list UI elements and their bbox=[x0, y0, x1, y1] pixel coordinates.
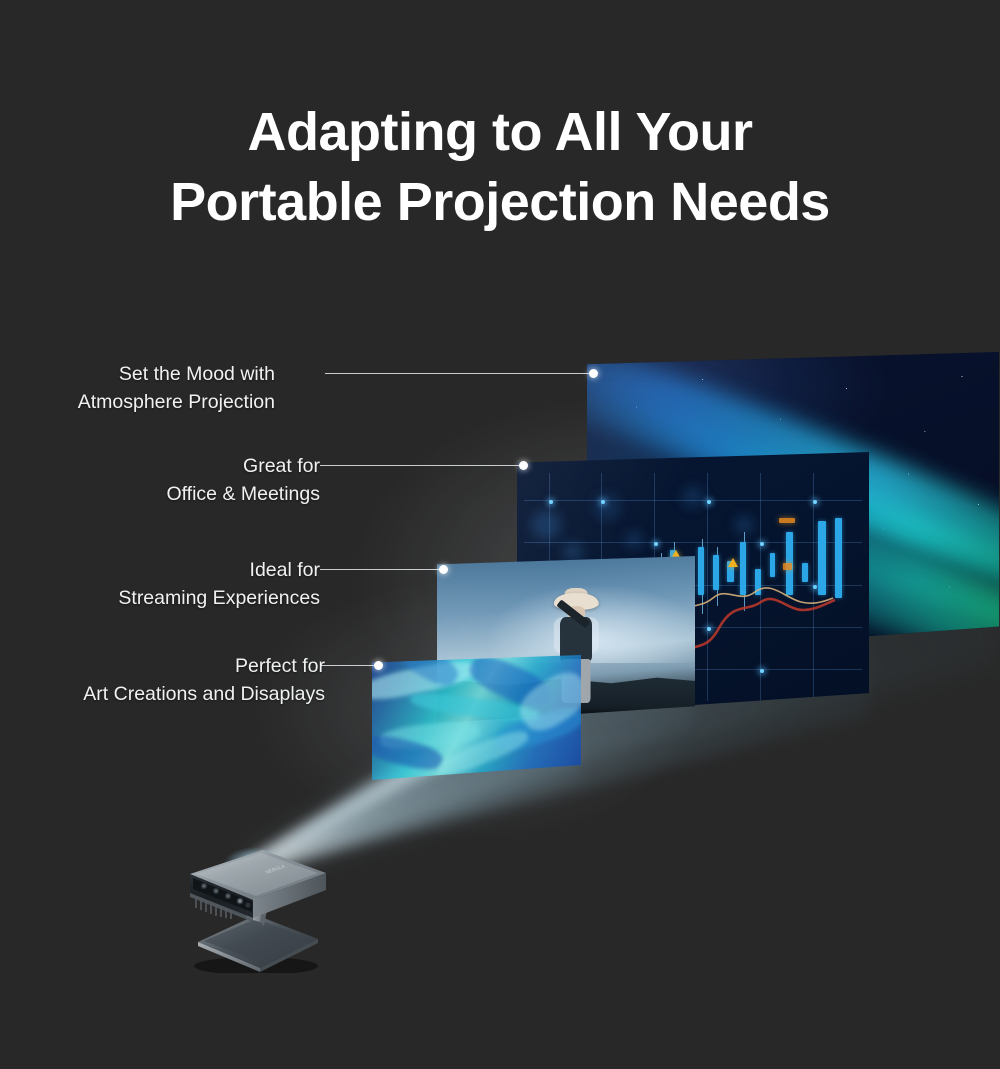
callout-leader-line bbox=[320, 465, 522, 466]
callout-endpoint-dot bbox=[519, 461, 528, 470]
callout-line-1: Perfect for bbox=[83, 652, 325, 680]
callout-line-2: Streaming Experiences bbox=[118, 584, 320, 612]
callout-line-2: Atmosphere Projection bbox=[78, 388, 275, 416]
projector-body: NEBULA bbox=[190, 850, 326, 922]
callout-leader-line bbox=[320, 665, 377, 666]
callout-line-1: Ideal for bbox=[118, 556, 320, 584]
callout-endpoint-dot bbox=[374, 661, 383, 670]
callout-endpoint-dot bbox=[589, 369, 598, 378]
callout-endpoint-dot bbox=[439, 565, 448, 574]
paint-strokes bbox=[372, 655, 581, 780]
projection-scene: Set the Mood with Atmosphere Projection … bbox=[0, 0, 1000, 1069]
callout-leader-line bbox=[320, 569, 442, 570]
callout-line-1: Set the Mood with bbox=[78, 360, 275, 388]
art-creations-screen[interactable] bbox=[372, 655, 581, 780]
callout-leader-line bbox=[325, 373, 592, 374]
callout-line-2: Art Creations and Disaplays bbox=[83, 680, 325, 708]
portable-mini-projector[interactable]: NEBULA bbox=[160, 838, 350, 973]
lens-element bbox=[245, 902, 250, 907]
callout-line-2: Office & Meetings bbox=[166, 480, 320, 508]
callout-line-1: Great for bbox=[166, 452, 320, 480]
